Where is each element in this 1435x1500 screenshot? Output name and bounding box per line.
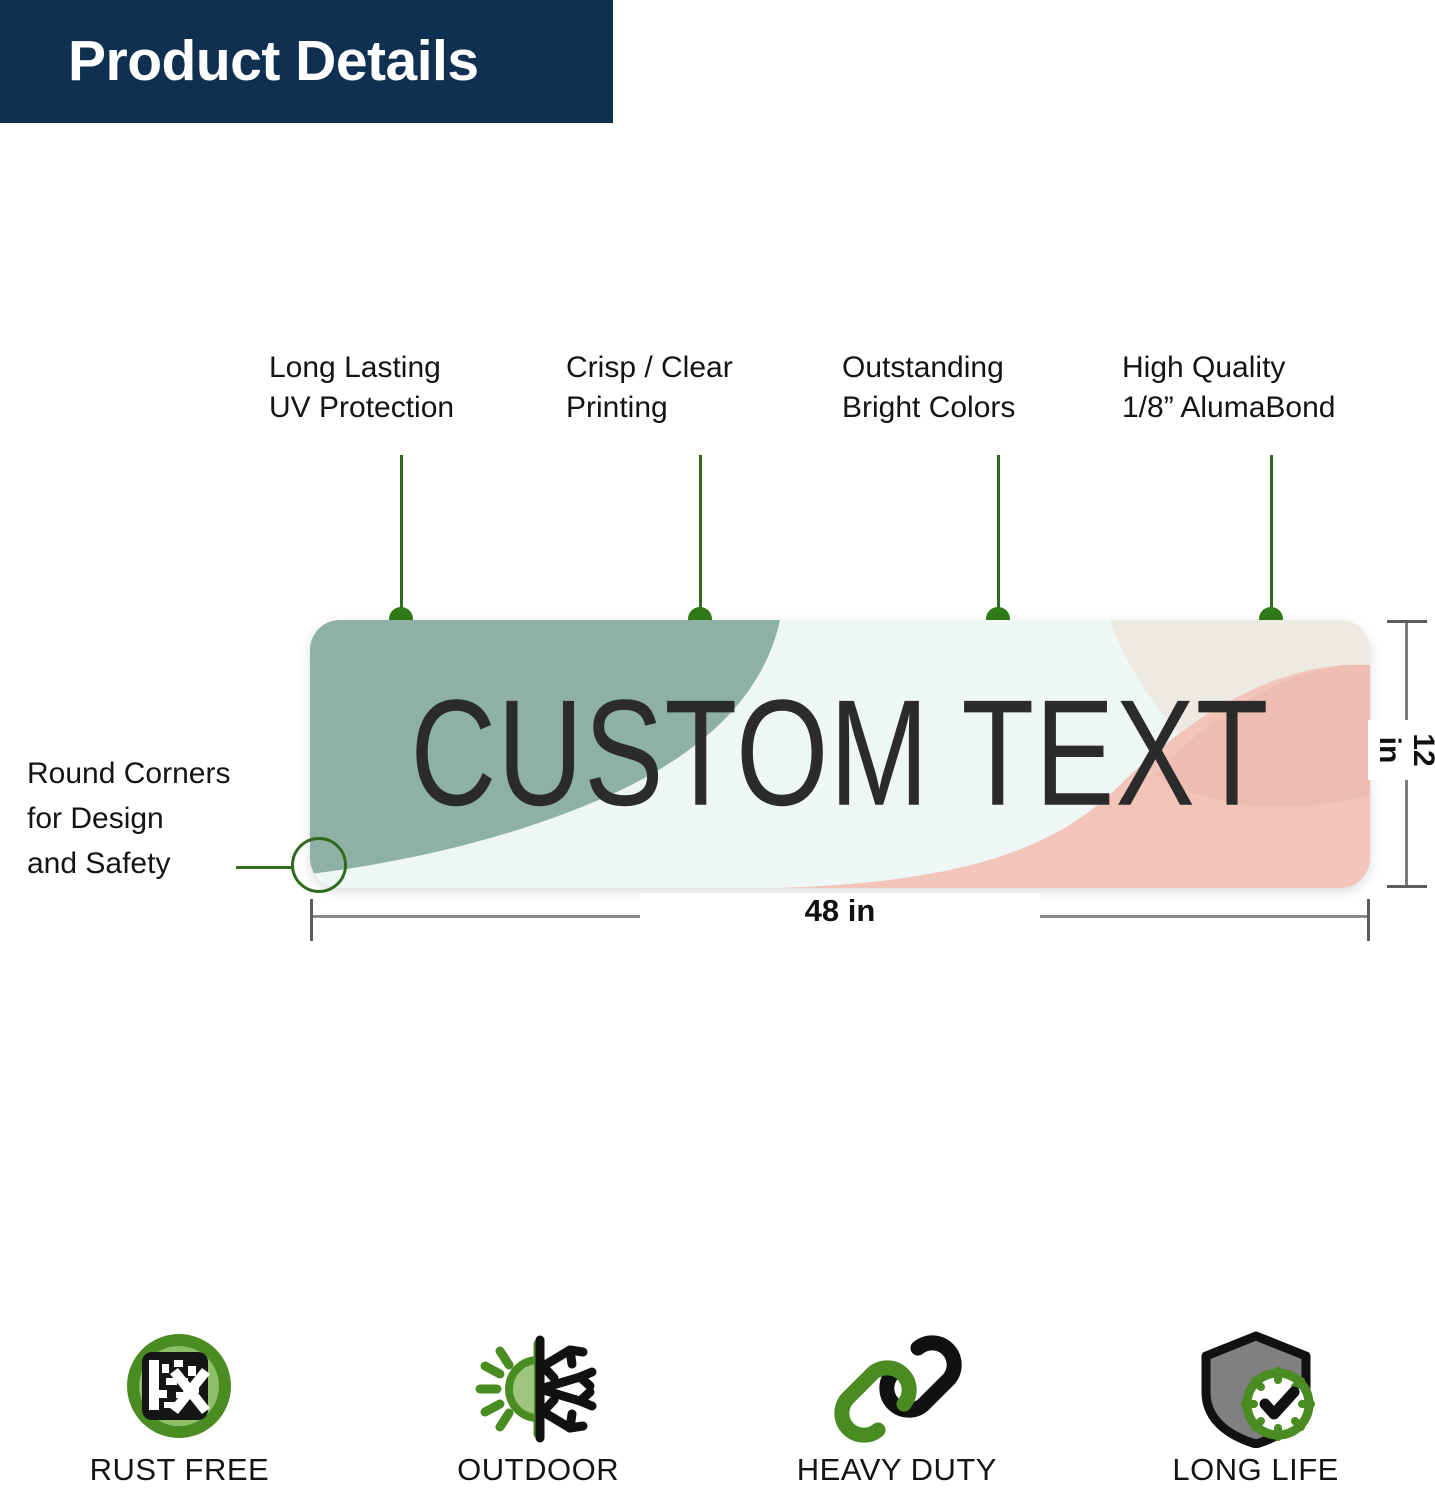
height-dimension-label: 12 in [1368, 720, 1435, 780]
sign-panel: CUSTOM TEXT [310, 620, 1370, 888]
callout-label-bright-colors: Outstanding Bright Colors [842, 348, 1015, 428]
feature-label-rust-free: RUST FREE [90, 1452, 270, 1488]
feature-label-outdoor: OUTDOOR [457, 1452, 619, 1488]
sign-preview: CUSTOM TEXT [310, 620, 1370, 888]
callout-leader-line-bright-colors [997, 455, 1000, 620]
callout-leader-line-round-corners [236, 866, 292, 869]
feature-icon-row: RUST FREE [0, 1330, 1435, 1500]
height-dimension-cap-bottom [1387, 885, 1427, 888]
header-banner: Product Details [0, 0, 613, 123]
width-dimension-label: 48 in [640, 893, 1040, 929]
callout-label-crisp-printing: Crisp / Clear Printing [566, 348, 733, 428]
width-dimension-cap-right [1367, 899, 1370, 941]
feature-label-long-life: LONG LIFE [1172, 1452, 1338, 1488]
sun-snowflake-icon [458, 1330, 618, 1448]
feature-outdoor: OUTDOOR [359, 1330, 718, 1500]
callout-leader-line-crisp-printing [699, 455, 702, 620]
callout-leader-line-uv-protection [400, 455, 403, 620]
rust-free-icon [104, 1330, 254, 1448]
height-dimension-cap-top [1387, 620, 1427, 623]
feature-long-life: LONG LIFE [1076, 1330, 1435, 1500]
round-corner-highlight-circle [291, 837, 347, 893]
width-dimension-cap-left [310, 899, 313, 941]
shield-clock-icon [1181, 1330, 1331, 1448]
callout-label-uv-protection: Long Lasting UV Protection [269, 348, 454, 428]
feature-label-heavy-duty: HEAVY DUTY [797, 1452, 997, 1488]
callout-label-alumabond: High Quality 1/8” AlumaBond [1122, 348, 1335, 428]
chain-link-icon [822, 1330, 972, 1448]
feature-rust-free: RUST FREE [0, 1330, 359, 1500]
sign-custom-text: CUSTOM TEXT [310, 690, 1370, 818]
page-title: Product Details [68, 33, 479, 90]
feature-heavy-duty: HEAVY DUTY [718, 1330, 1077, 1500]
callout-label-round-corners: Round Corners for Design and Safety [27, 751, 230, 886]
callout-leader-line-alumabond [1270, 455, 1273, 620]
